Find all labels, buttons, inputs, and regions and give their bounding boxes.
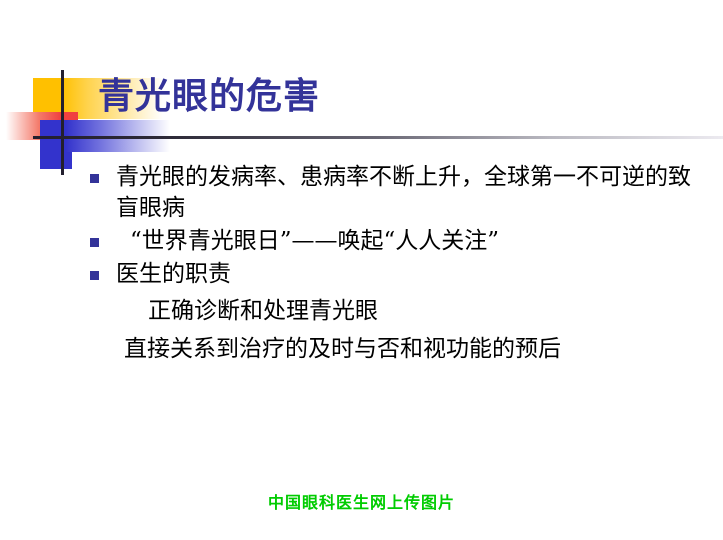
square-bullet-icon bbox=[90, 271, 99, 280]
square-bullet-icon bbox=[90, 174, 99, 183]
title-divider bbox=[33, 136, 723, 139]
slide-body: 青光眼的发病率、患病率不断上升，全球第一不可逆的致盲眼病 “世界青光眼日”——唤… bbox=[88, 162, 708, 365]
sub-line-text: 直接关系到治疗的及时与否和视功能的预后 bbox=[88, 334, 708, 365]
list-item: “世界青光眼日”——唤起“人人关注” bbox=[88, 226, 708, 257]
list-item: 青光眼的发病率、患病率不断上升，全球第一不可逆的致盲眼病 bbox=[88, 162, 708, 224]
slide-title: 青光眼的危害 bbox=[98, 76, 320, 117]
presentation-slide: 青光眼的危害 青光眼的发病率、患病率不断上升，全球第一不可逆的致盲眼病 “世界青… bbox=[0, 0, 723, 540]
logo-blue-foot-icon bbox=[40, 152, 72, 169]
footer-watermark: 中国眼科医生网上传图片 bbox=[0, 489, 723, 513]
logo-vertical-line-icon bbox=[61, 70, 64, 175]
bullet-text: 医生的职责 bbox=[116, 259, 708, 290]
list-item: 医生的职责 bbox=[88, 259, 708, 290]
bullet-text: “世界青光眼日”——唤起“人人关注” bbox=[116, 226, 708, 257]
sub-line-text: 正确诊断和处理青光眼 bbox=[88, 296, 708, 327]
bullet-text: 青光眼的发病率、患病率不断上升，全球第一不可逆的致盲眼病 bbox=[116, 162, 708, 224]
square-bullet-icon bbox=[90, 238, 99, 247]
